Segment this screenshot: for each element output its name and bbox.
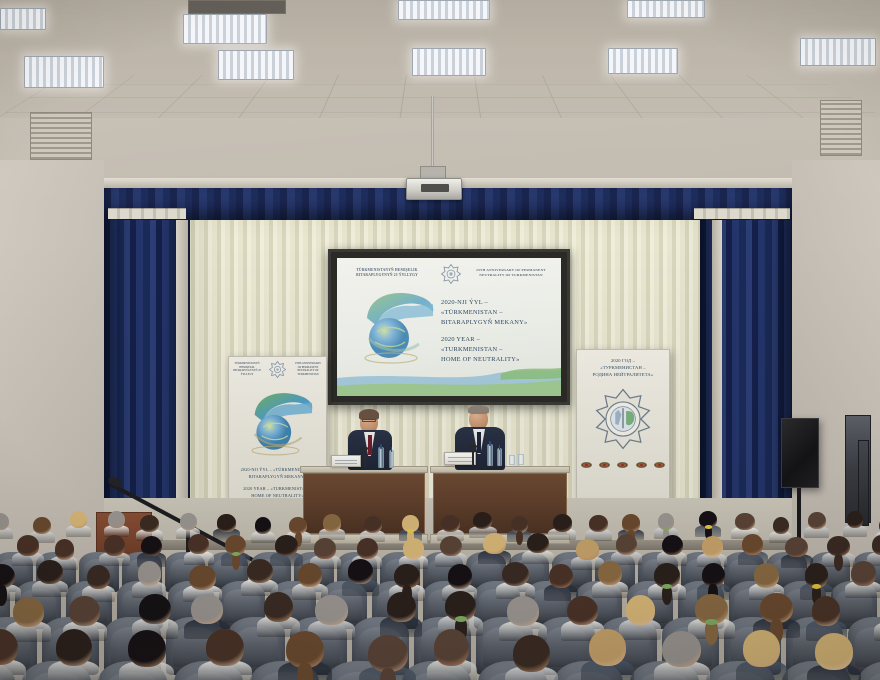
ponytail	[297, 663, 312, 680]
projection-screen-frame: TÜRKMENISTANYŇ HEMIŞELIK BITARAPLYGYNYŇ …	[328, 249, 570, 405]
audience-head	[754, 563, 779, 587]
audience-member	[742, 534, 763, 565]
hair-scrunchie	[455, 616, 467, 622]
placard-text-line	[335, 463, 357, 464]
audience-head	[589, 629, 626, 666]
audience-head	[576, 539, 599, 559]
pa-loudspeaker	[781, 418, 819, 488]
audience-member	[387, 592, 416, 637]
globe-with-flag-ribbon	[239, 383, 319, 464]
water-bottle	[378, 447, 384, 468]
audience-head	[702, 536, 723, 556]
audience-head	[440, 536, 462, 556]
audience-head	[662, 535, 683, 555]
audience-head	[441, 515, 460, 532]
suspended-ceiling	[0, 0, 880, 122]
desk-microphone-head	[468, 445, 477, 448]
hair-scrunchie	[705, 619, 718, 625]
audience-member	[662, 631, 701, 680]
slide-header-turkmen: TÜRKMENISTANYŇ HEMIŞELIK BITARAPLYGYNYŇ …	[344, 268, 430, 278]
recessed-fluorescent-panel	[218, 50, 294, 80]
audience-member	[323, 514, 341, 540]
audience-member	[37, 560, 62, 597]
audience-member	[255, 517, 272, 543]
ventilation-grille	[820, 100, 862, 156]
placard-text-line	[448, 461, 472, 462]
audience-head	[17, 535, 39, 555]
audience-member	[805, 563, 828, 600]
audience-member	[368, 635, 408, 680]
audience-head	[403, 538, 424, 558]
banner-right-line-2: «ТУРКМЕНИСТАН –	[577, 365, 669, 372]
banner-right-line-3: РОДИНА НЕЙТРАЛИТЕТА»	[577, 372, 669, 379]
audience-head	[773, 517, 789, 534]
audience-head	[55, 539, 74, 559]
hair-scrunchie	[705, 525, 712, 529]
audience-member	[662, 535, 683, 566]
audience-member	[527, 533, 549, 564]
ponytail	[834, 554, 843, 571]
audience-member	[108, 511, 125, 537]
audience-head	[527, 533, 549, 553]
audience-head	[851, 561, 876, 585]
drinking-glass	[509, 455, 515, 465]
audience-head	[589, 515, 607, 532]
speaker-necktie	[477, 432, 481, 453]
audience-head	[735, 513, 754, 530]
audience-member	[440, 536, 462, 567]
audience-head	[69, 596, 100, 626]
ventilation-grille	[30, 112, 92, 160]
audience-head	[549, 564, 573, 588]
recessed-fluorescent-panel	[627, 0, 705, 18]
desk-microphone-head	[360, 447, 368, 450]
wall-left-return	[0, 160, 104, 560]
desk-microphone-stem	[472, 448, 474, 466]
audience-head	[13, 597, 44, 627]
audience-member	[0, 629, 18, 680]
audience-head	[56, 629, 92, 666]
audience-head	[189, 565, 216, 589]
audience-member	[434, 629, 469, 680]
audience-head	[139, 594, 170, 624]
audience-head	[286, 631, 324, 668]
audience-head	[368, 635, 408, 672]
audience-head	[191, 594, 223, 624]
audience-head	[33, 517, 51, 534]
audience-head	[180, 513, 197, 530]
slide-body-text: 2020-NJI ÝYL – «TÜRKMENISTAN – BITARAPLY…	[441, 298, 553, 372]
audience-member	[275, 535, 297, 566]
audience-head	[567, 596, 597, 626]
drinking-glass	[518, 454, 524, 465]
audience-head	[298, 563, 323, 587]
audience-head	[513, 635, 550, 672]
audience-member	[0, 564, 15, 601]
ceiling-access-panel	[188, 0, 286, 14]
placard-text-line	[448, 457, 472, 458]
eyeglasses-icon	[362, 419, 376, 422]
audience-member	[815, 633, 852, 680]
audience-member	[553, 514, 572, 540]
audience-member	[626, 595, 655, 640]
hair-scrunchie	[812, 584, 821, 589]
audience-head	[323, 514, 341, 531]
audience-member	[847, 511, 863, 537]
audience-head	[448, 564, 472, 588]
audience-member	[502, 562, 529, 599]
audience-head	[662, 631, 701, 668]
audience-head	[827, 536, 850, 556]
banner-left-header-turkmen: TÜRKMENISTANYŇ HEMIŞELIK BITARAPLYGYNYŇ …	[232, 362, 262, 377]
audience-member	[827, 536, 850, 567]
water-bottle	[497, 448, 502, 466]
audience-head	[616, 534, 637, 554]
valance-stripe	[694, 208, 790, 219]
carpet-gul	[636, 462, 647, 468]
seated-audience	[0, 506, 880, 680]
audience-member	[511, 516, 528, 542]
audience-head	[742, 534, 763, 554]
auditorium-photo: TÜRKMENISTANYŇ HEMIŞELIK BITARAPLYGYNYŇ …	[0, 0, 880, 680]
audience-member	[70, 511, 87, 537]
turkmenistan-state-emblem	[592, 388, 654, 455]
audience-head	[812, 596, 840, 626]
audience-head	[315, 595, 347, 625]
audience-head	[264, 592, 293, 622]
audience-head	[502, 562, 529, 586]
carpet-gul	[654, 462, 665, 468]
audience-head	[598, 561, 622, 585]
recessed-fluorescent-panel	[412, 48, 486, 76]
ceiling-tile-grid	[0, 75, 880, 122]
audience-head	[128, 630, 166, 667]
audience-head	[473, 512, 492, 529]
hair-scrunchie	[662, 584, 672, 589]
audience-head	[87, 565, 110, 589]
neutrality-star-emblem	[441, 264, 461, 284]
audience-member	[513, 635, 550, 680]
audience-member	[483, 533, 506, 564]
ponytail	[516, 531, 523, 545]
audience-member	[225, 535, 246, 566]
recessed-fluorescent-panel	[800, 38, 876, 66]
audience-member	[286, 631, 324, 680]
ceiling-projector	[406, 178, 462, 200]
audience-head	[247, 559, 273, 583]
audience-head	[387, 592, 416, 622]
audience-member	[598, 561, 622, 598]
audience-member	[138, 561, 162, 598]
slide-block-turkmen: 2020-NJI ÝYL – «TÜRKMENISTAN – BITARAPLY…	[441, 298, 553, 328]
audience-member	[808, 512, 825, 538]
audience-head	[507, 596, 540, 626]
audience-member	[0, 513, 9, 539]
projection-screen: TÜRKMENISTANYŇ HEMIŞELIK BITARAPLYGYNYŇ …	[337, 258, 561, 396]
audience-head	[357, 538, 378, 558]
banner-left-header-english: 25TH ANNIVERSARY OF PERMANENT NEUTRALITY…	[293, 362, 323, 377]
audience-head	[314, 538, 336, 558]
water-bottle	[389, 450, 394, 468]
audience-head	[141, 536, 162, 556]
audience-head	[743, 630, 779, 667]
audience-head	[275, 535, 297, 555]
audience-head	[138, 561, 162, 585]
speaker-hair	[468, 405, 489, 414]
audience-head	[847, 511, 863, 528]
recessed-fluorescent-panel	[24, 56, 104, 88]
audience-head	[188, 534, 209, 554]
audience-member	[128, 630, 166, 680]
audience-head	[255, 517, 272, 534]
banner-right-line-1: 2020 ГОД –	[577, 358, 669, 365]
audience-head	[553, 514, 572, 531]
globe-with-flag-ribbon	[349, 282, 441, 368]
neutrality-star-emblem	[269, 361, 286, 383]
hair-scrunchie	[407, 529, 414, 533]
name-placard-left	[331, 455, 361, 467]
audience-head	[206, 629, 243, 666]
audience-head	[434, 629, 469, 666]
audience-member	[104, 535, 125, 566]
carpet-gul-row	[577, 462, 669, 468]
slide-block-english: 2020 YEAR – «TURKMENISTAN – HOME OF NEUT…	[441, 335, 553, 365]
recessed-fluorescent-panel	[0, 8, 46, 30]
audience-member	[699, 511, 717, 537]
audience-head	[483, 533, 506, 553]
water-bottle	[487, 444, 493, 466]
audience-head	[104, 535, 125, 555]
audience-head	[37, 560, 62, 584]
audience-head	[217, 514, 236, 531]
audience-head	[348, 559, 373, 583]
audience-head	[815, 633, 852, 670]
slide-landscape-graphic	[337, 362, 561, 396]
audience-member	[743, 630, 779, 680]
recessed-fluorescent-panel	[608, 48, 678, 74]
placard-text-line	[335, 460, 357, 461]
slide-header-english: 25TH ANNIVERSARY OF PERMANENT NEUTRALITY…	[467, 268, 555, 278]
audience-head	[140, 515, 159, 532]
carpet-gul	[599, 462, 610, 468]
audience-member	[589, 629, 626, 680]
audience-member	[247, 559, 273, 596]
audience-member	[206, 629, 243, 680]
desk-microphone-stem	[364, 450, 366, 467]
audience-head	[785, 537, 808, 557]
audience-head	[70, 511, 87, 528]
audience-member	[17, 535, 39, 566]
audience-member	[589, 515, 607, 541]
audience-member	[851, 561, 876, 598]
audience-member	[348, 559, 373, 596]
audience-head	[364, 516, 382, 533]
carpet-gul	[617, 462, 628, 468]
ponytail	[380, 668, 396, 680]
audience-head	[108, 511, 125, 528]
audience-member	[576, 539, 599, 570]
recessed-fluorescent-panel	[398, 0, 490, 20]
audience-member	[56, 629, 92, 680]
audience-head	[626, 595, 655, 625]
speaker-necktie	[368, 435, 372, 455]
audience-head	[808, 512, 825, 529]
audience-member	[654, 563, 680, 600]
valance-stripe	[108, 208, 186, 219]
recessed-fluorescent-panel	[183, 14, 267, 44]
carpet-gul	[581, 462, 592, 468]
audience-member	[188, 534, 209, 565]
